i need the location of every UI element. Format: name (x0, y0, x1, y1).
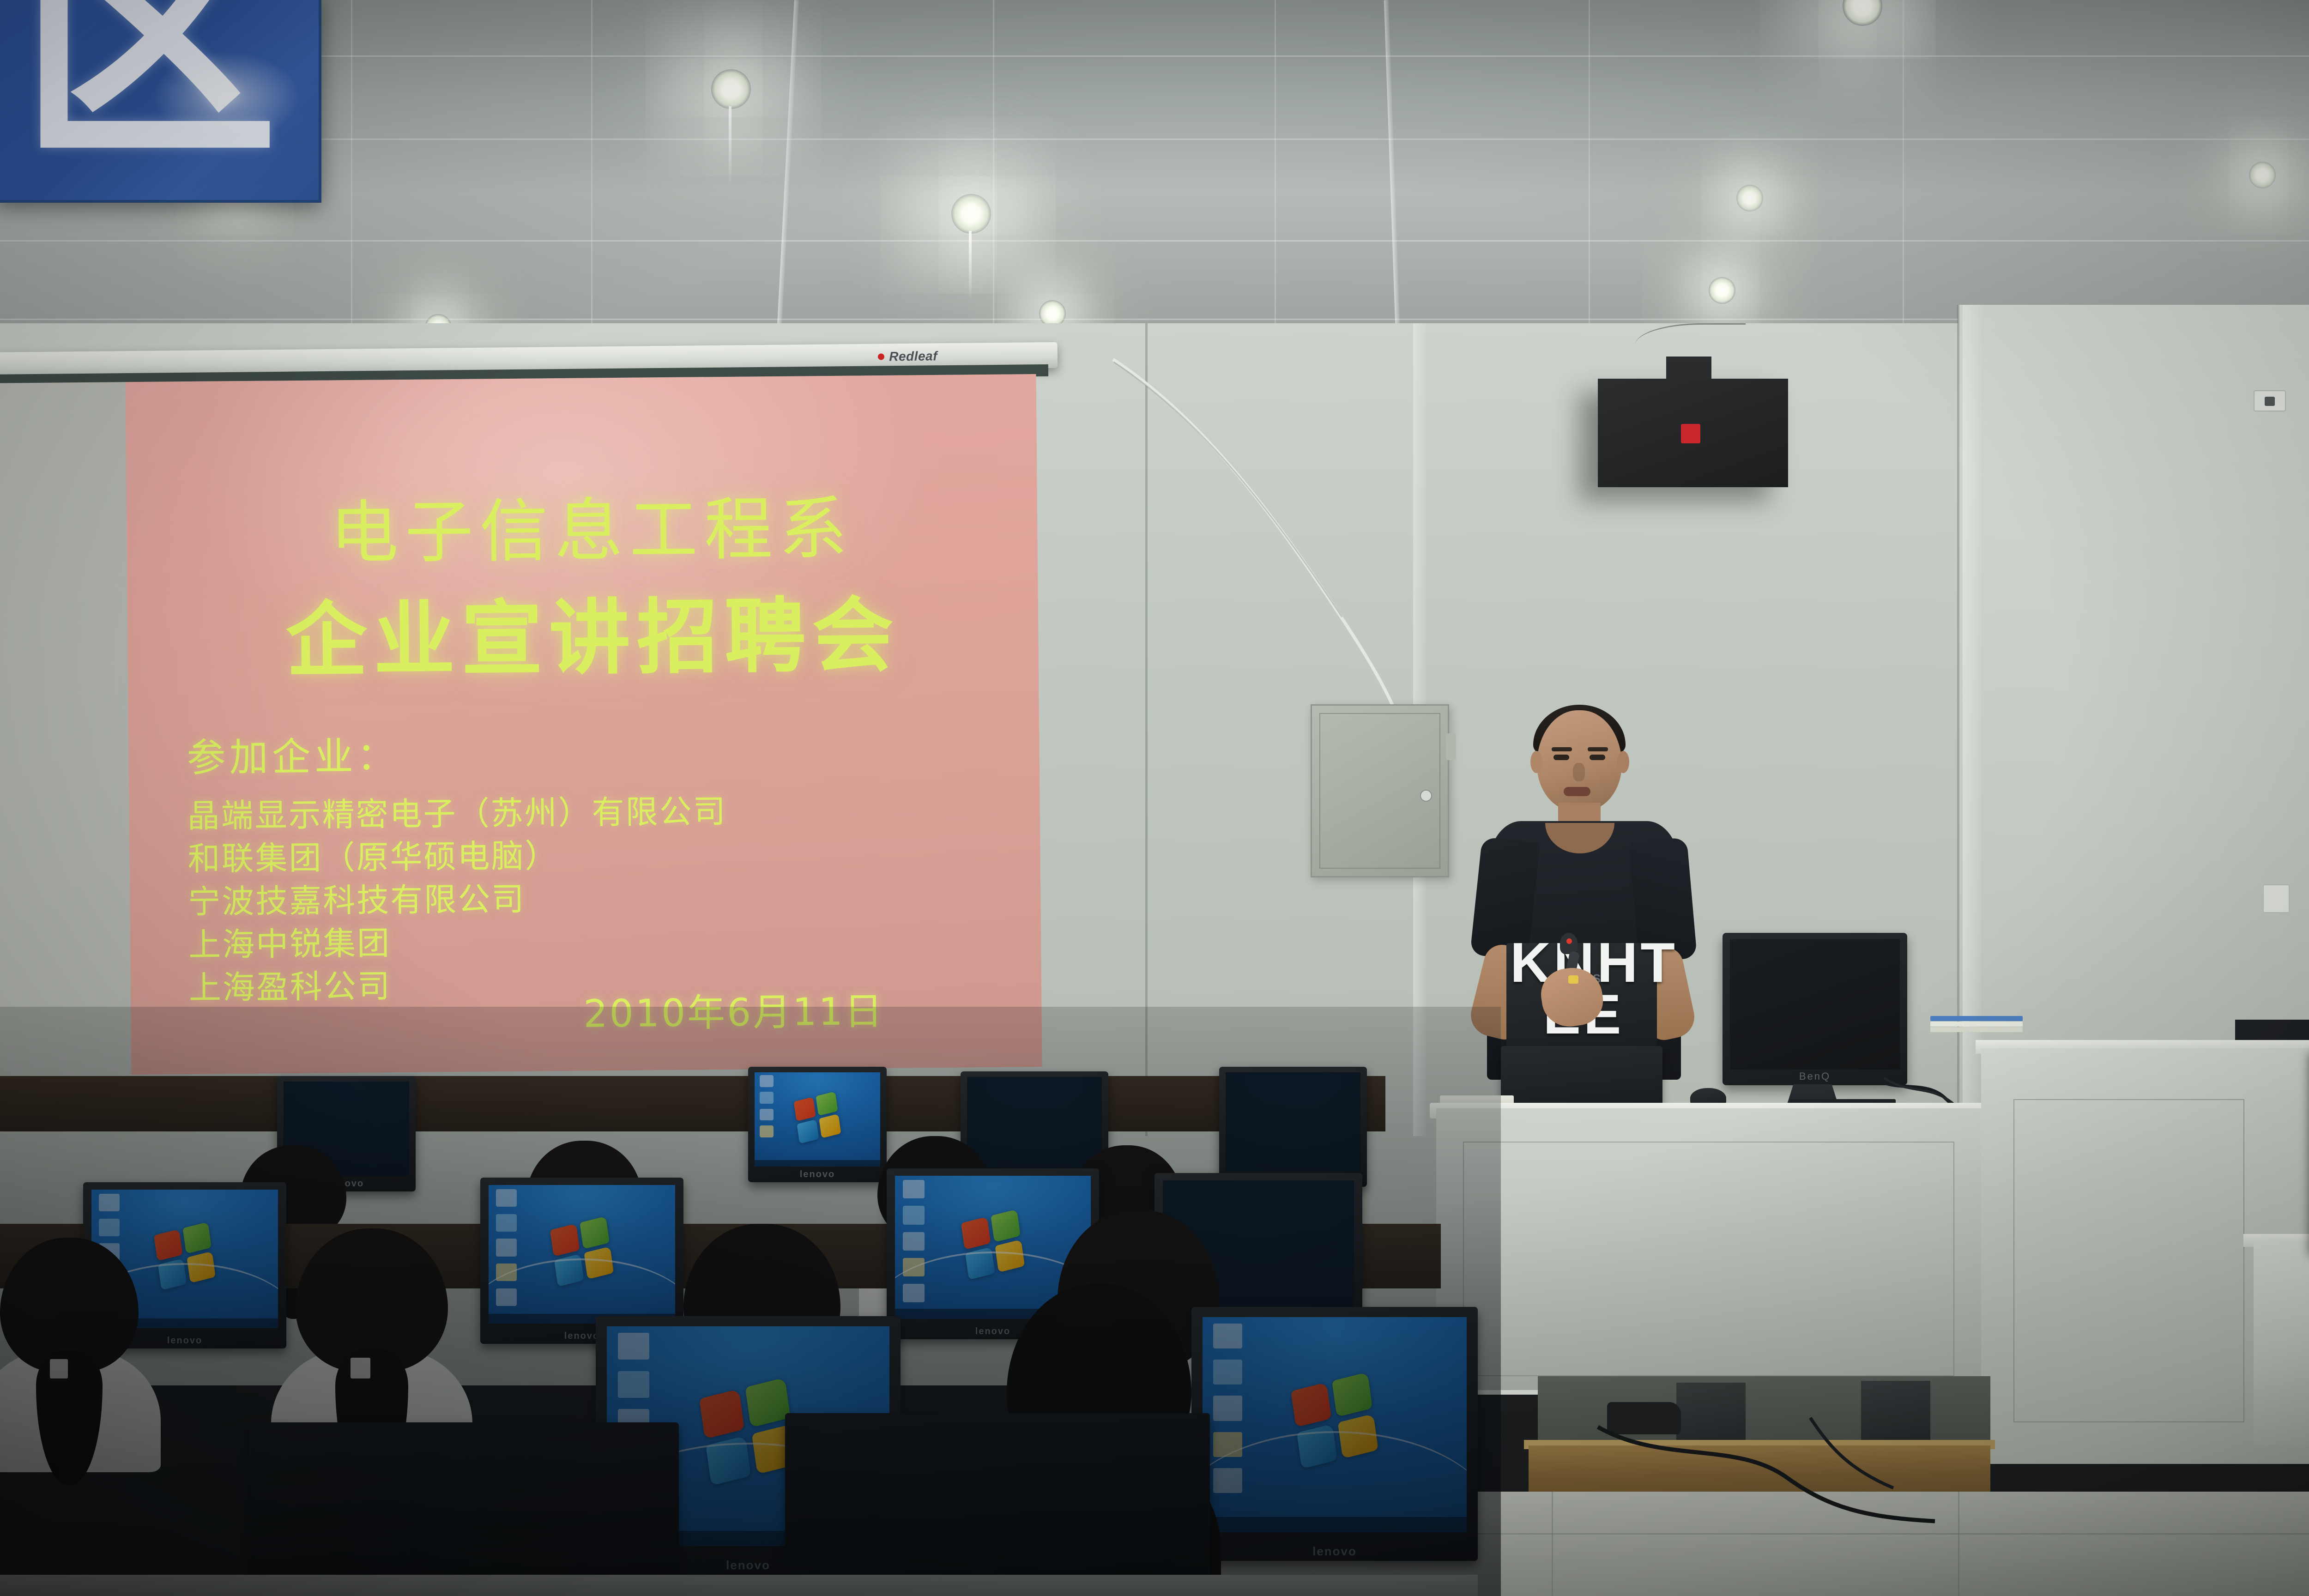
presenter-mouth (1564, 787, 1590, 796)
presenter-eye-left (1553, 755, 1569, 760)
ceiling-light-2 (951, 194, 991, 234)
company-3: 宁波技嘉科技有限公司 (188, 876, 728, 924)
slide-title-line2: 企业宣讲招聘会 (127, 568, 1040, 694)
monitor-back-near-left[interactable] (249, 1422, 679, 1596)
ceiling (0, 0, 2309, 351)
presenter-nose (1573, 763, 1585, 781)
ceiling-conduit-wire (1108, 356, 1432, 711)
presenter-ear-left (1530, 751, 1542, 773)
presenter-ear-right (1617, 751, 1629, 773)
electrical-cabinet[interactable] (1311, 704, 1449, 877)
blue-wall-sign: 区 (0, 0, 321, 203)
wall-socket[interactable] (2263, 884, 2290, 913)
podium-desk (1436, 1108, 1981, 1395)
floor-cables (1570, 1409, 1940, 1529)
ceiling-light-1 (711, 69, 751, 109)
monitor-brand-label: lenovo (1191, 1544, 1478, 1559)
screen-brand: Redleaf (878, 349, 937, 364)
right-counter-panel (2013, 1099, 2244, 1422)
company-2: 和联集团（原华硕电脑） (187, 833, 727, 881)
presenter-brow-right (1588, 747, 1608, 751)
microphone-led-icon (1566, 938, 1572, 944)
brand-dot-icon (878, 353, 884, 360)
presenter-brow-left (1552, 747, 1572, 751)
desk-row-front (0, 1575, 1478, 1596)
projector-mount-light (1736, 185, 1763, 212)
monitor-r3-2[interactable]: lenovo (748, 1067, 887, 1182)
podium-monitor-screen (1730, 939, 1900, 1070)
projection-screen: 电子信息工程系 企业宣讲招聘会 参加企业： 晶端显示精密电子（苏州）有限公司 和… (0, 374, 1042, 1076)
cabinet-lock-icon[interactable] (1420, 790, 1432, 802)
projected-slide: 电子信息工程系 企业宣讲招聘会 参加企业： 晶端显示精密电子（苏州）有限公司 和… (125, 374, 1042, 1075)
desk-row-back (0, 1076, 1385, 1131)
slide-company-list: 参加企业： 晶端显示精密电子（苏州）有限公司 和联集团（原华硕电脑） 宁波技嘉科… (187, 722, 728, 1010)
company-4: 上海中锐集团 (188, 919, 728, 967)
hair-clip-icon (351, 1358, 370, 1378)
speaker-logo-icon (1681, 424, 1700, 443)
monitor-back-near-right[interactable] (785, 1413, 1210, 1596)
ceiling-light-6 (1709, 277, 1735, 304)
right-desk (2254, 1242, 2309, 1445)
photo-scene: 区 Redleaf 电子信息工程系 企业宣讲招聘会 参加企业： 晶端显示精密电子… (0, 0, 2309, 1596)
wall-speaker (1598, 379, 1788, 487)
company-1: 晶端显示精密电子（苏州）有限公司 (187, 790, 727, 838)
monitor-brand-label: lenovo (748, 1169, 887, 1180)
sign-glare (152, 51, 300, 143)
ceiling-light-7 (2249, 162, 2276, 188)
podium-monitor[interactable]: BenQ (1723, 933, 1907, 1085)
computer-lab-area: lenovo lenovo lenovo lenovo (0, 1007, 1478, 1596)
wall-sensor (2254, 390, 2286, 411)
cabinet-hinge (1446, 733, 1456, 760)
student-row2-a (0, 1238, 139, 1455)
podium-front-panel (1463, 1142, 1954, 1376)
presenter-ring-icon (1568, 975, 1578, 984)
monitor-r3-4[interactable]: lenovo (1219, 1067, 1367, 1187)
screen-brand-label: Redleaf (889, 349, 937, 364)
hair-clip-icon (50, 1359, 68, 1378)
ceiling-light-5 (1843, 0, 1882, 26)
presenter-eye-right (1590, 755, 1605, 760)
monitor-r1-2[interactable]: lenovo (1191, 1307, 1478, 1561)
companies-label: 参加企业： (187, 722, 726, 783)
book-stack (1930, 1016, 2023, 1035)
slide-title-line1: 电子信息工程系 (126, 471, 1039, 578)
right-shelf-dark-bar (2235, 1020, 2309, 1043)
